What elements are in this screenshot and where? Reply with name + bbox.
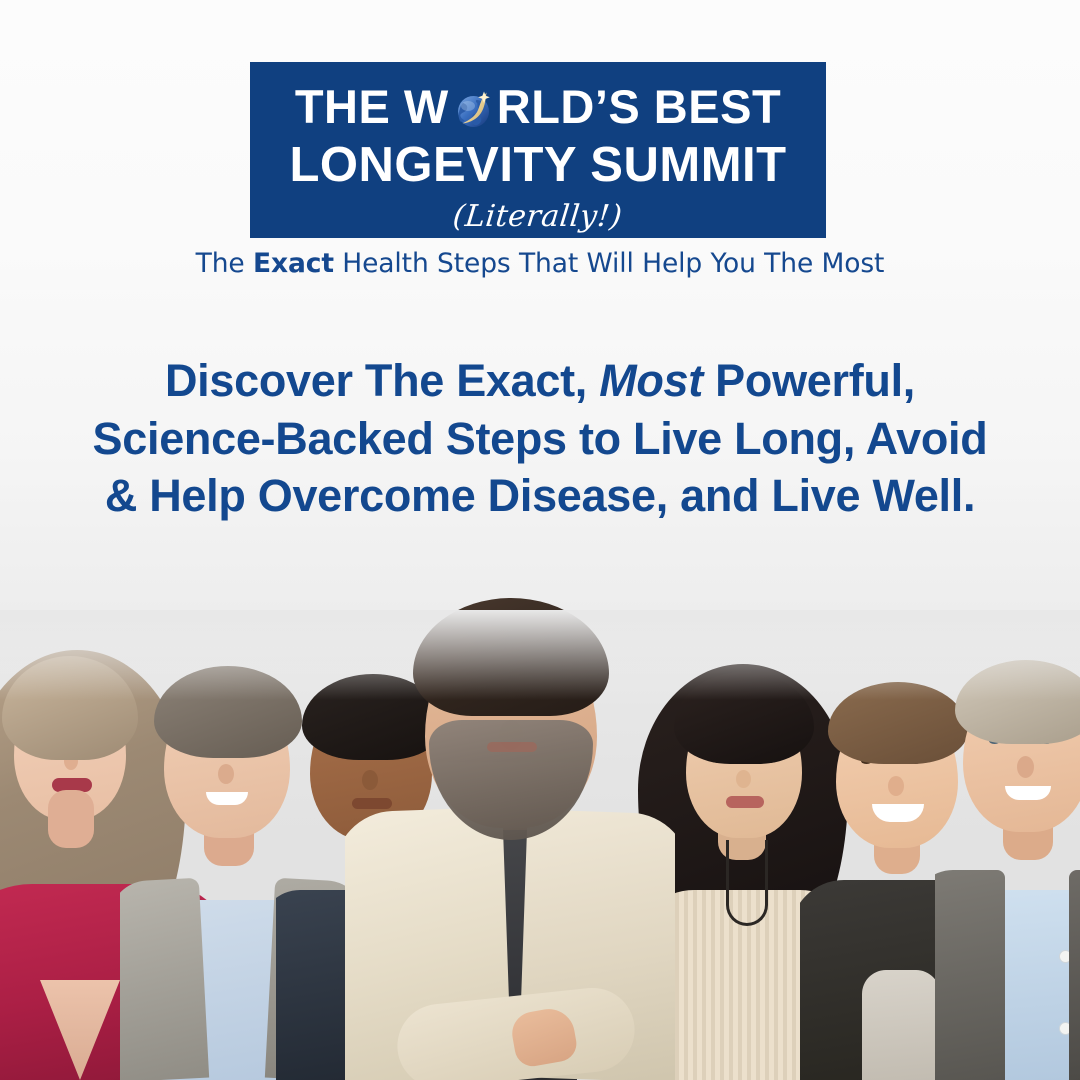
banner-title-line-2: LONGEVITY SUMMIT [289,137,786,194]
speaker-3-suit-left [276,890,356,1080]
tagline-part-2: Health Steps That Will Help You The Most [334,248,884,279]
tagline-part-1: The [196,248,253,279]
speaker-6-inner-shirt [862,970,940,1080]
speaker-portrait-4-center [345,590,675,1080]
speaker-5-necklace-cord [726,840,768,926]
speaker-portrait-7 [935,650,1080,1080]
promo-poster: THE W [0,0,1080,1080]
speaker-6-nose [888,776,904,796]
banner-script-note: (Literally!) [452,199,625,234]
speaker-4-hair [413,598,609,716]
headline-emphasis-most: Most [599,355,703,406]
speaker-photo-band [0,610,1080,1080]
speaker-2-nose [218,764,234,784]
page-title: Discover The Exact, Most Powerful, Scien… [0,352,1080,525]
speaker-5-nose [736,770,751,788]
tagline-bold-word: Exact [253,248,334,279]
speaker-7-suit-right [1069,870,1080,1080]
banner-title-line-1: THE W [295,80,781,135]
headline-line-2: Science-Backed Steps to Live Long, Avoid [40,410,1040,468]
speaker-7-nose [1017,756,1034,778]
speaker-7-hair [955,660,1080,744]
speaker-4-mouth [487,742,537,752]
summit-logo-banner: THE W [250,62,826,238]
speaker-6-smile [872,804,924,822]
speaker-2-smile [206,792,248,805]
speaker-2-blazer-left [120,878,209,1080]
headline-line-1-b: Powerful, [703,355,915,406]
headline-line-1-a: Discover The Exact, [165,355,599,406]
banner-title-line-1-pre: THE W [295,80,449,135]
speaker-5-mouth [726,796,764,808]
speaker-7-smile [1005,786,1051,800]
speaker-1-neck [48,790,94,848]
tagline: The Exact Health Steps That Will Help Yo… [0,248,1080,279]
headline-line-1: Discover The Exact, Most Powerful, [40,352,1040,410]
banner-title-line-1-post: RLD’S BEST [497,80,781,135]
headline-line-3: & Help Overcome Disease, and Live Well. [40,467,1040,525]
speaker-7-suit-left [935,870,1005,1080]
globe-icon [450,86,496,132]
